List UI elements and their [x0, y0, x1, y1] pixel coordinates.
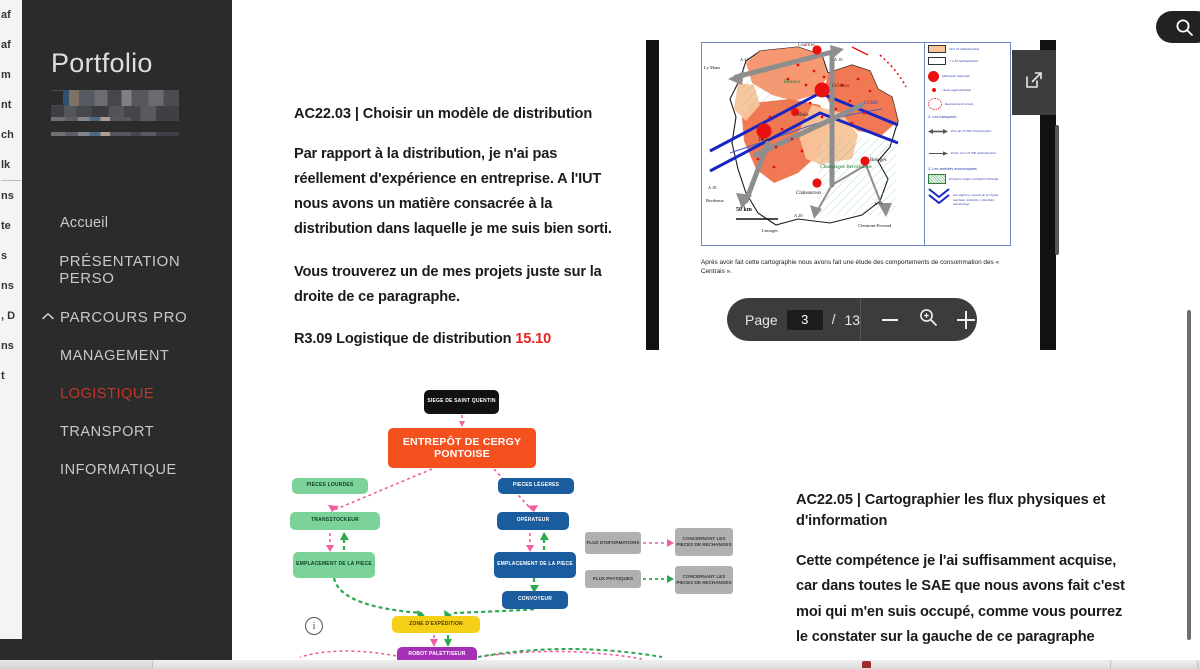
- legend-section-transports: 2. Les transports :: [925, 112, 1010, 120]
- bg-fragment: ns: [1, 271, 22, 301]
- map-road-a11: A 11: [740, 57, 748, 62]
- competence-paragraph: Vous trouverez un de mes projets juste s…: [294, 260, 624, 310]
- flow-node-zone-expedition: ZONE D'EXPÉDITION: [392, 616, 480, 633]
- map-road-a20: A 20: [794, 213, 802, 218]
- map-city-chateauroux: Châteauroux: [796, 191, 822, 196]
- legend-row: 50 à 70 habitants/km2: [925, 43, 1010, 55]
- bg-fragment: nt: [1, 90, 22, 120]
- sidebar: Portfolio Accueil PRÉSENTATION PERSO PAR…: [22, 0, 232, 660]
- map-scale-label: 50 km: [736, 207, 752, 213]
- sidebar-footer: [0, 639, 142, 660]
- legend-label: Métropole régionale: [942, 74, 970, 78]
- map-place-limoges: Limoges: [762, 228, 778, 233]
- bg-fragment: , D: [1, 301, 22, 331]
- sidebar-item-label: TRANSPORT: [60, 424, 154, 440]
- sidebar-item-management[interactable]: MANAGEMENT: [22, 337, 232, 375]
- page-title: Portfolio: [22, 0, 232, 79]
- chevron-axis-icon: [928, 188, 950, 211]
- map-road-a71: A 71: [874, 201, 882, 206]
- map-road-a10: A 10: [834, 57, 842, 62]
- competence-block-ac2203: AC22.03 | Choisir un modèle de distribut…: [294, 104, 624, 369]
- flow-node-pieces-lourdes: PIECES LOURDES: [292, 478, 368, 494]
- sidebar-item-label: PRÉSENTATION PERSO: [59, 253, 232, 287]
- pdf-page-group: Page 3 / 13: [727, 310, 860, 330]
- map-place-clermont-ferrand: Clermont-Ferrand: [858, 223, 891, 228]
- competence-paragraph: Par rapport à la distribution, je n'ai p…: [294, 142, 624, 242]
- legend-label: Plus de 25 000 véhicules/jour: [951, 129, 991, 133]
- page-scrollbar-thumb[interactable]: [1187, 310, 1191, 640]
- chevron-up-icon: [42, 312, 56, 323]
- pdf-page-canvas: Chartres Orléans Blois Tours Bourges Châ…: [659, 40, 1040, 350]
- zoom-in-button[interactable]: [955, 309, 977, 331]
- sidebar-item-presentation-perso[interactable]: PRÉSENTATION PERSO: [22, 242, 232, 298]
- competence-heading: AC22.03 | Choisir un modèle de distribut…: [294, 104, 624, 125]
- background-page-sliver: af af m nt ch lk ns te s ns , D ns t: [0, 0, 22, 660]
- legend-row: Rayonnement urbain: [925, 94, 1010, 112]
- legend-dotted-circle-icon: [928, 98, 942, 110]
- map-city-bourges: Bourges: [870, 158, 887, 163]
- map-road-a10-bis: A 10: [708, 185, 716, 190]
- flux-target-physiques: CONCERNANT LES PIECES DE RECHANGES: [675, 566, 733, 594]
- bg-fragment: ch: [1, 120, 22, 150]
- flux-node-informations: FLUX D'INFORMATIONS: [585, 532, 641, 554]
- legend-swatch-white: [928, 57, 946, 65]
- legend-label: Autre agglomération: [943, 88, 971, 92]
- competence-block-ac2205: AC22.05 | Cartographier les flux physiqu…: [796, 490, 1126, 660]
- sidebar-item-label: INFORMATIQUE: [60, 462, 177, 478]
- pdf-scrollbar-thumb[interactable]: [1055, 125, 1059, 255]
- map-place-le-mans: Le Mans: [704, 65, 720, 70]
- sidebar-item-accueil[interactable]: Accueil: [22, 204, 232, 242]
- competence-heading: AC22.05 | Cartographier les flux physiqu…: [796, 490, 1126, 532]
- legend-label: Première région céréalière d'Europe: [949, 177, 999, 181]
- map-city-tours: Tours: [758, 138, 769, 143]
- zoom-reset-button[interactable]: [917, 309, 939, 331]
- sidebar-item-label: MANAGEMENT: [60, 348, 169, 364]
- sidebar-item-logistique[interactable]: LOGISTIQUE: [22, 375, 232, 413]
- flow-node-transstockeur: TRANSSTOCKEUR: [290, 512, 380, 530]
- flow-node-robot-palettiseur: ROBOT PALETTISEUR: [397, 647, 477, 660]
- legend-row: Entre 12 et 25 000 véhicules/jour: [925, 142, 1010, 164]
- pdf-document-caption: Après avoir fait cette cartographie nous…: [701, 258, 1017, 277]
- map-legend: 50 à 70 habitants/km2 < à 50 habitants/k…: [924, 43, 1010, 245]
- map-city-orleans: Orléans: [832, 83, 849, 89]
- map-place-bordeaux: Bordeaux: [706, 198, 724, 203]
- map-dot-tours: [757, 124, 772, 139]
- pdf-page-toolbar: Page 3 / 13: [727, 298, 977, 341]
- pdf-letterbox-left: [646, 40, 659, 350]
- legend-label: Axe ligérien, couloir de la région: tour…: [953, 193, 1007, 206]
- pdf-viewer[interactable]: Chartres Orléans Blois Tours Bourges Châ…: [646, 40, 1056, 350]
- legend-row: Axe ligérien, couloir de la région: tour…: [925, 186, 1010, 213]
- flux-diagram-figure: FLUX D'INFORMATIONS FLUX PHYSIQUES CONCE…: [545, 488, 725, 558]
- single-arrow-icon: [928, 144, 948, 162]
- browser-taskbar: [0, 660, 1200, 669]
- map-region-champagne-berrichonne: Champagne Berrichonne: [818, 165, 874, 171]
- flux-target-informations: CONCERNANT LES PIECES DE RECHANGES: [675, 528, 733, 556]
- map-dot-orleans: [815, 83, 830, 98]
- legend-label: 50 à 70 habitants/km2: [949, 47, 979, 51]
- map-body: Chartres Orléans Blois Tours Bourges Châ…: [702, 43, 924, 245]
- open-in-new-button[interactable]: [1012, 50, 1056, 115]
- map-city-chartres: Chartres: [798, 43, 815, 48]
- bg-fragment: af: [1, 30, 22, 60]
- sidebar-item-informatique[interactable]: INFORMATIQUE: [22, 451, 232, 489]
- bg-fragment: ns: [1, 181, 22, 211]
- legend-label: < à 50 habitants/km2: [949, 59, 978, 63]
- legend-label: Rayonnement urbain: [945, 102, 973, 106]
- map-region-beauce: Beauce: [784, 79, 800, 85]
- sidebar-item-parcours-pro[interactable]: PARCOURS PRO: [22, 298, 232, 337]
- open-in-new-icon: [1024, 70, 1044, 95]
- zoom-out-button[interactable]: [879, 309, 901, 331]
- page-label: Page: [745, 312, 778, 328]
- page-separator: /: [832, 312, 836, 327]
- legend-row: Plus de 25 000 véhicules/jour: [925, 120, 1010, 142]
- double-arrow-icon: [928, 122, 948, 140]
- sidebar-item-transport[interactable]: TRANSPORT: [22, 413, 232, 451]
- search-button[interactable]: [1156, 11, 1200, 43]
- page-scrollbar-track[interactable]: [1185, 0, 1197, 660]
- bg-fragment: t: [1, 361, 22, 391]
- legend-row: Première région céréalière d'Europe: [925, 172, 1010, 186]
- sidebar-item-label: PARCOURS PRO: [60, 309, 187, 326]
- legend-row: Autre agglomération: [925, 84, 1010, 94]
- bg-fragment: af: [1, 0, 22, 30]
- pdf-zoom-group: [861, 309, 977, 331]
- map-dot-chateauroux: [812, 178, 821, 187]
- competence-paragraph: Cette compétence je l'ai suffisamment ac…: [796, 549, 1126, 649]
- page-total: 13: [844, 312, 860, 328]
- flow-node-emplacement-piece-gauche: EMPLACEMENT DE LA PIECE: [293, 552, 375, 578]
- sidebar-item-label: LOGISTIQUE: [60, 386, 154, 402]
- taskbar-window-main[interactable]: [152, 660, 1112, 669]
- map-river-loire: LOIRE: [864, 101, 878, 106]
- browser-tab-icon[interactable]: [862, 661, 871, 668]
- flow-node-entrepot: ENTREPÔT DE CERGY PONTOISE: [388, 428, 536, 468]
- map-graphic: [702, 43, 924, 245]
- plus-icon: [957, 311, 975, 329]
- bg-fragment: te: [1, 211, 22, 241]
- search-icon: [1175, 18, 1194, 37]
- flux-node-physiques: FLUX PHYSIQUES: [585, 570, 641, 588]
- bg-fragment: lk: [1, 150, 22, 180]
- info-icon[interactable]: i: [305, 617, 323, 635]
- legend-hatch-swatch: [928, 174, 946, 184]
- legend-row: < à 50 habitants/km2: [925, 55, 1010, 67]
- page-number-input[interactable]: 3: [787, 310, 823, 330]
- legend-row: Métropole régionale: [925, 67, 1010, 84]
- main-content: AC22.03 | Choisir un modèle de distribut…: [232, 0, 1200, 660]
- map-figure: Chartres Orléans Blois Tours Bourges Châ…: [701, 42, 1011, 246]
- sidebar-nav: Accueil PRÉSENTATION PERSO PARCOURS PRO …: [22, 204, 232, 489]
- legend-swatch-orange: [928, 45, 946, 53]
- sidebar-item-label: Accueil: [60, 215, 108, 231]
- taskbar-window-secondary[interactable]: [1110, 660, 1198, 669]
- app-root: af af m nt ch lk ns te s ns , D ns t Por…: [0, 0, 1200, 669]
- bg-fragment: m: [1, 60, 22, 90]
- flow-node-siege: SIEGE DE SAINT QUENTIN: [424, 390, 499, 414]
- legend-section-economie: 3. Les activités économiques: [925, 164, 1010, 172]
- legend-big-red-dot-icon: [928, 71, 939, 82]
- legend-small-red-dot-icon: [932, 88, 936, 92]
- bg-fragment: ns: [1, 331, 22, 361]
- minus-icon: [882, 319, 898, 321]
- legend-label: Entre 12 et 25 000 véhicules/jour: [951, 151, 996, 155]
- bg-fragment: s: [1, 241, 22, 271]
- map-city-blois: Blois: [798, 113, 809, 118]
- magnifier-plus-icon: [918, 307, 938, 332]
